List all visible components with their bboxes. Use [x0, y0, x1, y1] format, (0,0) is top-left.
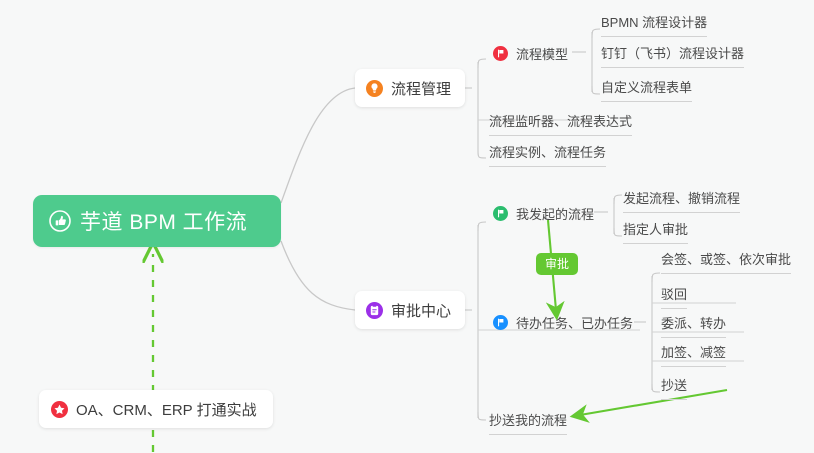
edge-pm-to-shili — [478, 150, 486, 158]
leaf-todo-done-tasks[interactable]: 待办任务、已办任务 — [493, 313, 633, 337]
edge-ac-to-mine — [478, 222, 486, 231]
leaf-label: 发起流程、撤销流程 — [623, 188, 740, 207]
leaf-process-listener[interactable]: 流程监听器、流程表达式 — [489, 111, 632, 136]
branch-node-process-management[interactable]: 流程管理 — [355, 69, 465, 107]
leaf-reject[interactable]: 驳回 — [661, 284, 687, 309]
branch-node-approval-center[interactable]: 审批中心 — [355, 291, 465, 329]
leaf-countersign[interactable]: 会签、或签、依次审批 — [661, 249, 791, 274]
leaf-bpmn-designer[interactable]: BPMN 流程设计器 — [601, 12, 707, 37]
leaf-cc-to-me[interactable]: 抄送我的流程 — [489, 410, 567, 435]
leaf-process-instance[interactable]: 流程实例、流程任务 — [489, 142, 606, 167]
leaf-add-remove-sign[interactable]: 加签、减签 — [661, 342, 726, 367]
branch-label: 审批中心 — [391, 300, 451, 321]
edge-lcmx-top — [592, 29, 600, 38]
leaf-assigned-approval[interactable]: 指定人审批 — [623, 219, 688, 244]
edge-pm-to-liuchengmoxing — [478, 59, 486, 68]
leaf-start-cancel-process[interactable]: 发起流程、撤销流程 — [623, 188, 740, 213]
leaf-label: 流程实例、流程任务 — [489, 142, 606, 161]
leaf-label: 流程监听器、流程表达式 — [489, 111, 632, 130]
leaf-custom-form[interactable]: 自定义流程表单 — [601, 77, 692, 102]
root-node[interactable]: 芋道 BPM 工作流 — [33, 195, 281, 247]
edge-lcmx-bot — [592, 86, 600, 94]
leaf-label: 抄送 — [661, 375, 687, 394]
leaf-process-model[interactable]: 流程模型 — [493, 44, 568, 68]
edge-root-to-approval-center — [281, 241, 355, 310]
edge-ac-to-cc — [478, 412, 486, 420]
leaf-label: 钉钉（飞书）流程设计器 — [601, 43, 744, 62]
edge-todo-c1 — [652, 273, 660, 282]
arrow-cc-flow — [580, 390, 727, 415]
leaf-label: 待办任务、已办任务 — [516, 313, 633, 332]
edge-mine-bot — [614, 228, 622, 236]
clipboard-icon — [366, 302, 383, 319]
leaf-label: 加签、减签 — [661, 342, 726, 361]
lightbulb-icon — [366, 80, 383, 97]
leaf-label: 流程模型 — [516, 44, 568, 63]
leaf-label: 自定义流程表单 — [601, 77, 692, 96]
leaf-label: 会签、或签、依次审批 — [661, 249, 791, 268]
note-label: OA、CRM、ERP 打通实战 — [76, 399, 257, 420]
edge-mine-top — [614, 195, 622, 204]
leaf-label: 抄送我的流程 — [489, 410, 567, 429]
star-icon — [51, 401, 68, 418]
edge-todo-c5 — [652, 384, 660, 392]
tag-approval[interactable]: 审批 — [536, 253, 578, 275]
leaf-carbon-copy[interactable]: 抄送 — [661, 375, 687, 400]
leaf-dingtalk-designer[interactable]: 钉钉（飞书）流程设计器 — [601, 43, 744, 68]
leaf-delegate-transfer[interactable]: 委派、转办 — [661, 313, 726, 338]
thumbs-up-icon — [49, 210, 71, 232]
edge-root-to-process-management — [281, 88, 355, 203]
leaf-label: BPMN 流程设计器 — [601, 12, 707, 31]
flag-green-icon — [493, 206, 508, 221]
leaf-my-initiated[interactable]: 我发起的流程 — [493, 204, 594, 228]
leaf-label: 驳回 — [661, 284, 687, 303]
flag-blue-icon — [493, 315, 508, 330]
leaf-label: 委派、转办 — [661, 313, 726, 332]
branch-label: 流程管理 — [391, 78, 451, 99]
root-label: 芋道 BPM 工作流 — [80, 206, 247, 236]
note-node-integration[interactable]: OA、CRM、ERP 打通实战 — [39, 390, 273, 428]
leaf-label: 我发起的流程 — [516, 204, 594, 223]
flag-red-icon — [493, 46, 508, 61]
leaf-label: 指定人审批 — [623, 219, 688, 238]
mindmap-canvas: 芋道 BPM 工作流 流程管理 流程模型 BPMN 流程设计器 钉钉（飞书 — [0, 0, 814, 453]
